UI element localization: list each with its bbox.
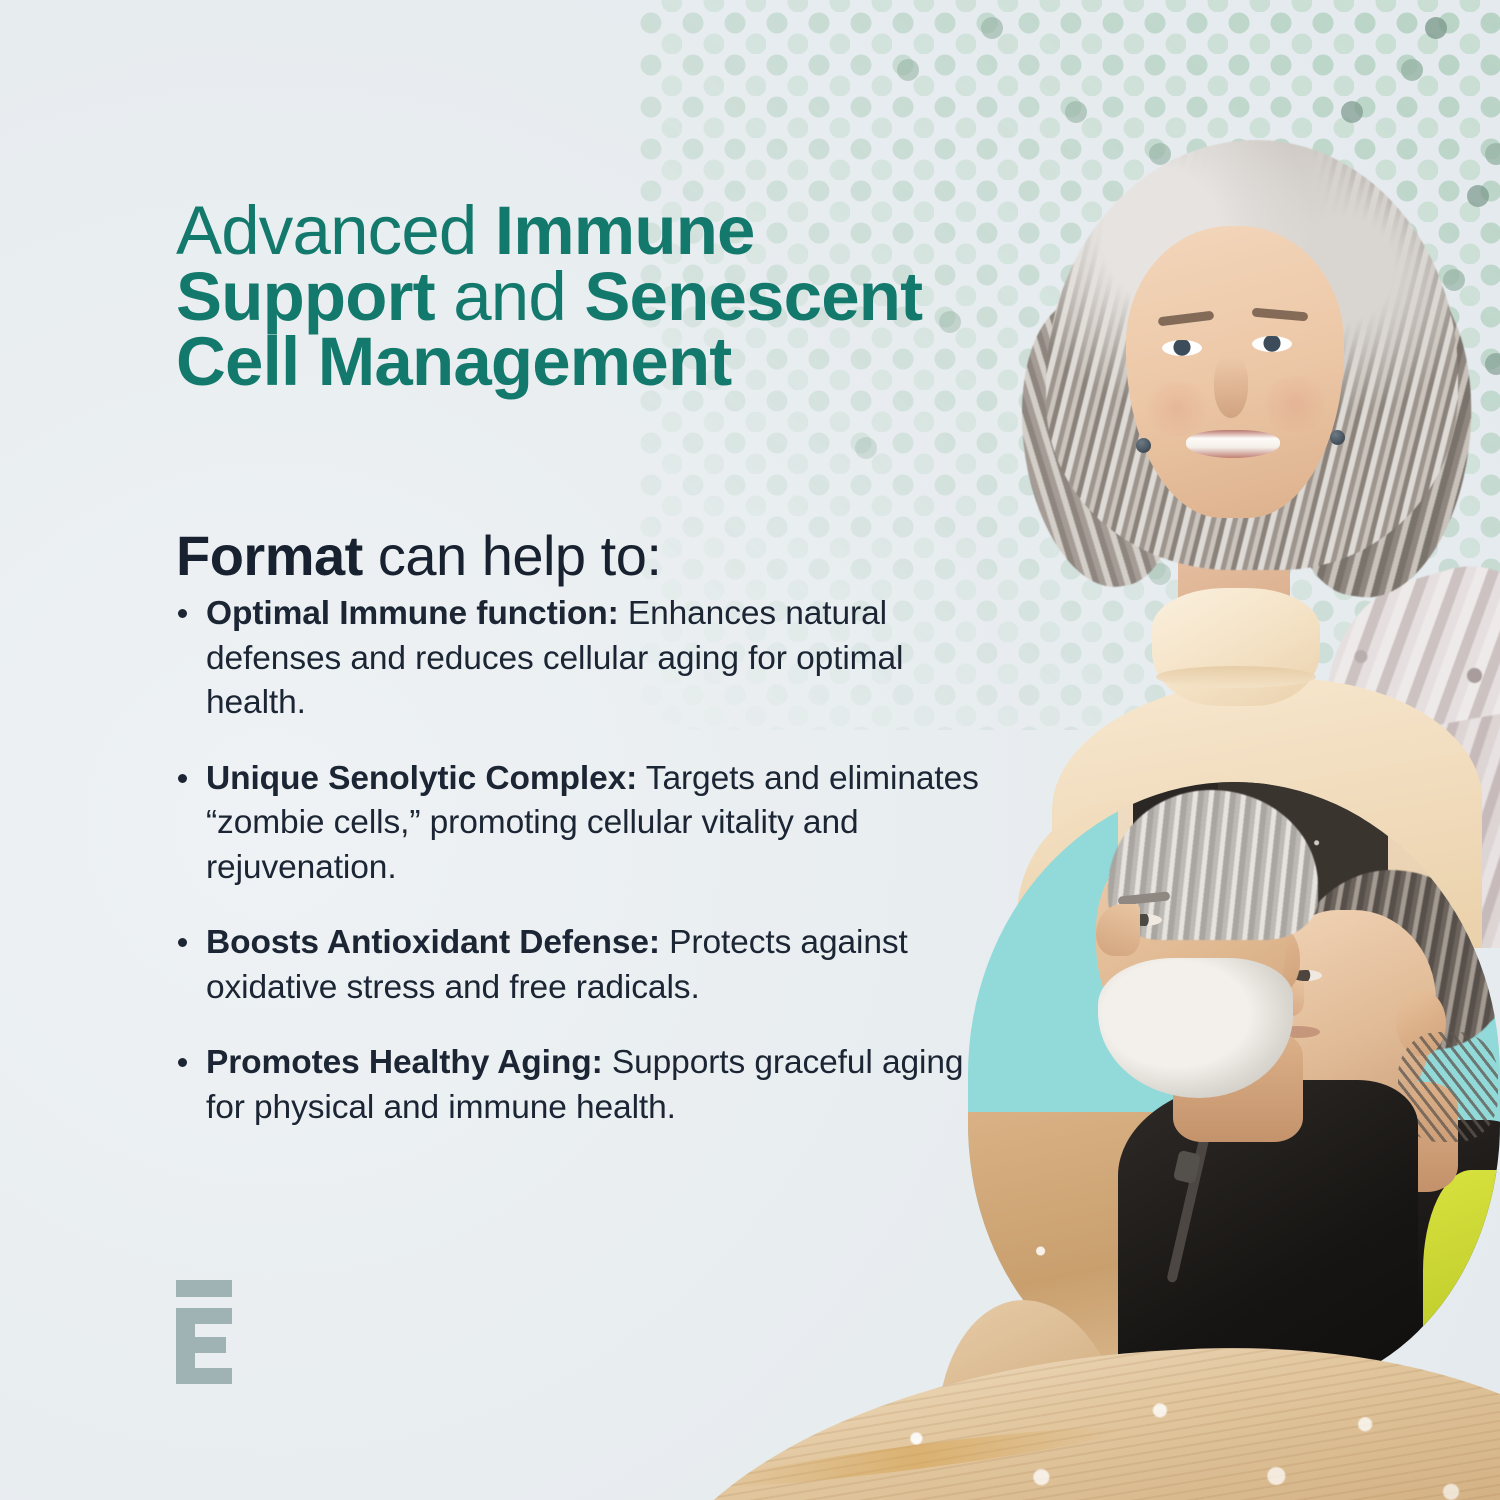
logo-middle-arm xyxy=(195,1337,226,1353)
infographic-canvas: Advanced ImmuneSupport and SenescentCell… xyxy=(0,0,1500,1500)
benefit-item: Boosts Antioxidant Defense: Protects aga… xyxy=(176,921,991,1010)
senior-surfer-couple-photo xyxy=(968,782,1500,1392)
earring-left xyxy=(1136,438,1151,453)
bullet-dot-icon xyxy=(178,774,187,783)
headline-line-cell-management: Cell Management xyxy=(176,323,731,400)
page-title: Advanced ImmuneSupport and SenescentCell… xyxy=(176,198,1016,395)
benefit-title: Promotes Healthy Aging: xyxy=(206,1044,603,1081)
benefits-list: Optimal Immune function: Enhances natura… xyxy=(176,592,991,1130)
smiling-mouth xyxy=(1186,430,1280,458)
eye-right xyxy=(1252,336,1292,352)
logo-top-bar xyxy=(176,1280,232,1297)
cheek-right xyxy=(1258,376,1332,432)
cheek-left xyxy=(1140,380,1214,436)
benefit-title: Boosts Antioxidant Defense: xyxy=(206,924,660,961)
subtitle-rest: can help to: xyxy=(363,524,662,587)
section-subtitle: Format can help to: xyxy=(176,528,661,584)
brand-logo-e-icon xyxy=(176,1280,242,1384)
bullet-dot-icon xyxy=(178,938,187,947)
earring-right xyxy=(1330,430,1345,445)
benefit-title: Optimal Immune function: xyxy=(206,595,619,632)
logo-stem xyxy=(176,1308,195,1384)
benefit-item: Optimal Immune function: Enhances natura… xyxy=(176,592,991,726)
subtitle-product-name: Format xyxy=(176,524,363,587)
eye-left xyxy=(1162,340,1202,356)
turtleneck-collar xyxy=(1152,588,1320,706)
bullet-dot-icon xyxy=(178,1058,187,1067)
nose xyxy=(1214,356,1248,418)
benefit-item: Unique Senolytic Complex: Targets and el… xyxy=(176,757,991,891)
logo-upper-arm xyxy=(195,1308,232,1324)
turtleneck-collar-fold xyxy=(1156,666,1316,688)
bullet-dot-icon xyxy=(178,609,187,618)
benefit-title: Unique Senolytic Complex: xyxy=(206,760,637,797)
benefit-item: Promotes Healthy Aging: Supports gracefu… xyxy=(176,1041,991,1130)
logo-lower-arm xyxy=(195,1368,232,1384)
